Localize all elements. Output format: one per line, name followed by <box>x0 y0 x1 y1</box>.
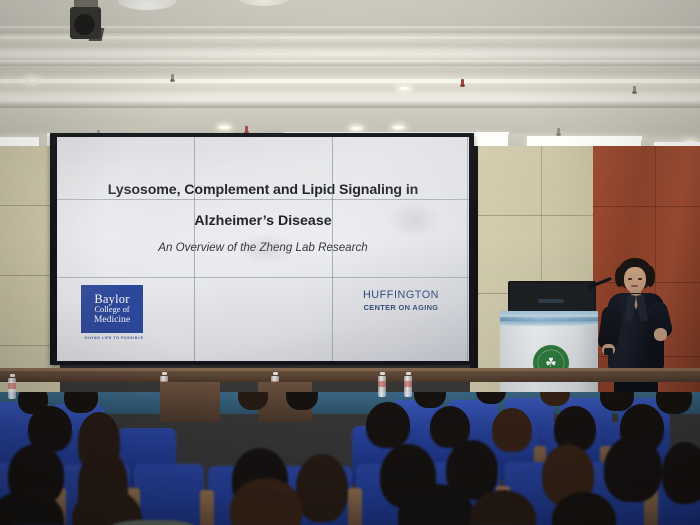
wall-seam <box>0 345 54 346</box>
podium-accent-band <box>500 311 598 326</box>
audience-head <box>662 442 700 504</box>
screen-smudge <box>237 233 297 265</box>
seat[interactable] <box>134 464 204 525</box>
panel-seam <box>332 137 333 361</box>
huffington-logo: HUFFINGTON CENTER ON AGING <box>341 289 461 312</box>
panel-seam <box>57 277 469 278</box>
wall-seam <box>0 205 54 206</box>
screen-smudge <box>387 201 441 239</box>
lecture-hall-photo: Lysosome, Complement and Lipid Signaling… <box>0 0 700 525</box>
audience-head <box>366 402 410 448</box>
downlight-icon <box>392 125 405 130</box>
panel-seam <box>57 199 469 200</box>
panel-seam <box>467 137 468 361</box>
ceiling-beam <box>0 100 700 108</box>
sprinkler-icon <box>632 86 637 95</box>
baylor-logo-tagline: GIVING LIFE TO POSSIBLE <box>81 336 147 340</box>
ceiling-beam <box>0 60 700 66</box>
sprinkler-icon <box>460 79 465 88</box>
sprinkler-icon <box>170 74 175 83</box>
wood-seam <box>593 206 700 207</box>
baylor-logo: Baylor College of Medicine GIVING LIFE T… <box>81 285 145 340</box>
downlight-icon <box>218 125 231 130</box>
wall-seam <box>0 275 54 276</box>
audience-head <box>604 436 662 502</box>
panel-seam <box>194 137 195 361</box>
front-ledge <box>0 370 700 382</box>
downlight-icon <box>350 126 363 131</box>
huffington-logo-line-1: HUFFINGTON <box>341 289 461 301</box>
audience-head <box>238 392 268 410</box>
front-ledge-top <box>0 368 700 371</box>
presenter-hand <box>654 328 667 341</box>
downlight-icon <box>26 78 39 83</box>
audience-seating <box>0 392 700 525</box>
ceiling-strip-light <box>0 36 700 39</box>
presentation-screen[interactable]: Lysosome, Complement and Lipid Signaling… <box>57 137 469 361</box>
audience-head <box>286 392 318 410</box>
audience-head <box>296 454 348 522</box>
audience-head <box>656 392 692 414</box>
seat-armrest <box>348 488 362 525</box>
baylor-logo-line-3: Medicine <box>94 315 130 325</box>
downlight-icon <box>398 86 411 91</box>
presenter-mouth <box>631 285 638 287</box>
ceiling-strip-light <box>0 79 700 83</box>
slide-title-line-1: Lysosome, Complement and Lipid Signaling… <box>57 182 469 198</box>
audience-head <box>492 408 532 452</box>
seat-armrest <box>200 490 214 525</box>
confidence-monitor[interactable] <box>508 281 596 315</box>
ceiling-camera-icon <box>68 0 103 45</box>
ceiling-beam <box>0 26 700 33</box>
wall-seam <box>478 215 596 216</box>
presentation-clicker <box>604 348 613 355</box>
huffington-logo-line-2: CENTER ON AGING <box>341 303 461 312</box>
